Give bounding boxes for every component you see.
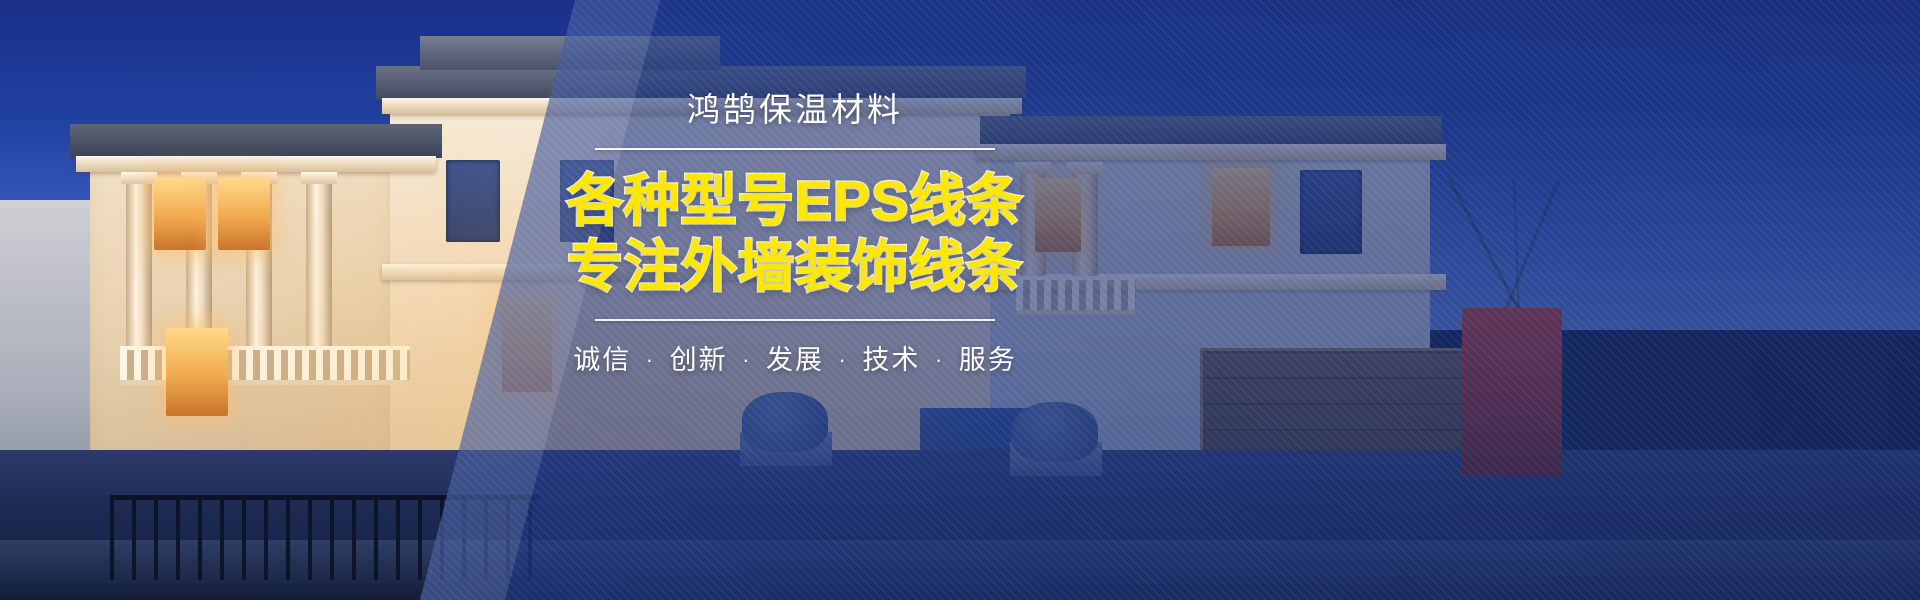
tagline-item-1: 诚信 (573, 345, 631, 375)
tagline-item-5: 服务 (959, 345, 1017, 375)
window-lit (218, 178, 270, 250)
tagline-item-3: 发展 (766, 345, 824, 375)
tagline-separator: · (641, 347, 660, 372)
column-capital (121, 172, 157, 184)
headline-line-2: 专注外墙装饰线条 (560, 234, 1030, 300)
window-dark (446, 160, 500, 242)
tagline-separator: · (737, 347, 756, 372)
column (126, 178, 152, 348)
column-capital (301, 172, 337, 184)
tagline: 诚信 · 创新 · 发展 · 技术 · 服务 (560, 338, 1030, 377)
headline-line-1: 各种型号EPS线条 (560, 168, 1030, 234)
balustrade-left (120, 346, 410, 385)
cornice-left (76, 156, 436, 172)
divider-bottom (595, 319, 995, 321)
divider-top (595, 148, 995, 150)
roof-left (70, 124, 442, 158)
headline: 各种型号EPS线条 专注外墙装饰线条 (560, 168, 1030, 299)
tagline-item-2: 创新 (670, 345, 728, 375)
tagline-item-4: 技术 (862, 345, 920, 375)
column (306, 178, 332, 348)
promo-banner: 鸿鹄保温材料 各种型号EPS线条 专注外墙装饰线条 诚信 · 创新 · 发展 ·… (0, 0, 1920, 600)
tagline-separator: · (930, 347, 949, 372)
brand-name: 鸿鹄保温材料 (560, 92, 1030, 128)
window-lit (154, 178, 206, 250)
banner-text-block: 鸿鹄保温材料 各种型号EPS线条 专注外墙装饰线条 诚信 · 创新 · 发展 ·… (560, 92, 1030, 377)
tagline-separator: · (834, 347, 853, 372)
window-lit (166, 328, 228, 416)
